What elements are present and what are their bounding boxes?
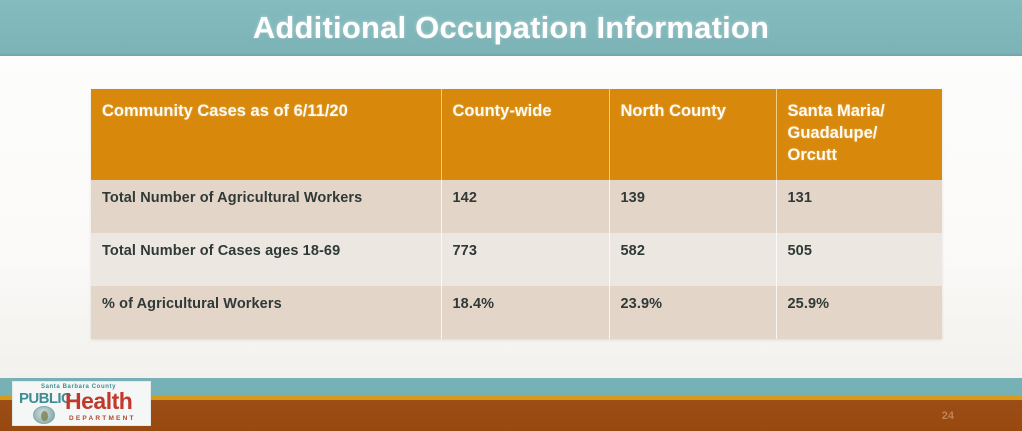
row-label-agricultural-workers: Total Number of Agricultural Workers	[91, 180, 441, 233]
cell-percent-agricultural-county-wide: 18.4%	[441, 286, 609, 339]
column-header-community-cases: Community Cases as of 6/11/20	[91, 89, 441, 180]
cell-cases-ages-county-wide: 773	[441, 233, 609, 286]
footer-teal-band	[0, 378, 1022, 398]
cell-cases-ages-north-county: 582	[609, 233, 776, 286]
cell-agricultural-workers-santa-maria: 131	[776, 180, 942, 233]
slide-title-bar: Additional Occupation Information	[0, 0, 1022, 56]
column-header-north-county: North County	[609, 89, 776, 180]
cell-percent-agricultural-north-county: 23.9%	[609, 286, 776, 339]
cell-percent-agricultural-santa-maria: 25.9%	[776, 286, 942, 339]
row-label-cases-ages: Total Number of Cases ages 18-69	[91, 233, 441, 286]
table-row: Total Number of Cases ages 18-69 773 582…	[91, 233, 942, 286]
logo-health-text: Health	[65, 390, 132, 413]
slide-content-area: Community Cases as of 6/11/20 County-wid…	[0, 56, 1022, 378]
cell-cases-ages-santa-maria: 505	[776, 233, 942, 286]
logo-department-text: DEPARTMENT	[69, 415, 136, 422]
page-number: 24	[942, 410, 954, 422]
county-seal-icon	[33, 406, 55, 424]
occupation-data-table: Community Cases as of 6/11/20 County-wid…	[91, 89, 942, 339]
page-title: Additional Occupation Information	[253, 10, 769, 46]
row-label-percent-agricultural: % of Agricultural Workers	[91, 286, 441, 339]
logo-public-text: PUBLIC	[19, 391, 71, 406]
public-health-logo: Santa Barbara County PUBLIC Health DEPAR…	[12, 381, 151, 426]
cell-agricultural-workers-north-county: 139	[609, 180, 776, 233]
cell-agricultural-workers-county-wide: 142	[441, 180, 609, 233]
column-header-county-wide: County-wide	[441, 89, 609, 180]
table-header-row: Community Cases as of 6/11/20 County-wid…	[91, 89, 942, 180]
column-header-santa-maria: Santa Maria/ Guadalupe/ Orcutt	[776, 89, 942, 180]
footer-brown-band: 24	[0, 400, 1022, 431]
table-row: Total Number of Agricultural Workers 142…	[91, 180, 942, 233]
table-row: % of Agricultural Workers 18.4% 23.9% 25…	[91, 286, 942, 339]
